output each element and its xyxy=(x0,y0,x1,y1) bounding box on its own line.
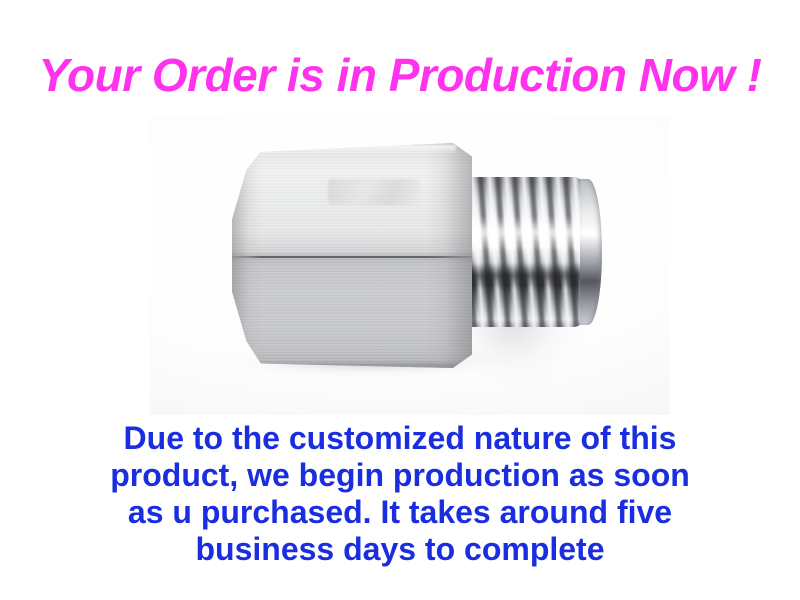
page-title: Your Order is in Production Now ! xyxy=(0,52,800,98)
hex-stamped-marking xyxy=(328,179,420,205)
notice-line: as u purchased. It takes around five xyxy=(0,494,800,531)
notice-line: product, we begin production as soon xyxy=(0,457,800,494)
product-photo xyxy=(150,115,670,415)
production-notice-text: Due to the customized nature of this pro… xyxy=(0,420,800,568)
notice-line: business days to complete xyxy=(0,531,800,568)
hex-outline xyxy=(232,143,472,368)
hex-body xyxy=(232,143,472,368)
promo-banner: Your Order is in Production Now ! xyxy=(0,0,800,600)
notice-line: Due to the customized nature of this xyxy=(0,420,800,457)
hex-bottom-edge-shading xyxy=(242,361,460,368)
hex-left-chamfer-shading xyxy=(232,143,262,368)
hex-top-edge-highlight xyxy=(242,145,456,154)
hex-right-shoulder-shading xyxy=(426,143,472,368)
